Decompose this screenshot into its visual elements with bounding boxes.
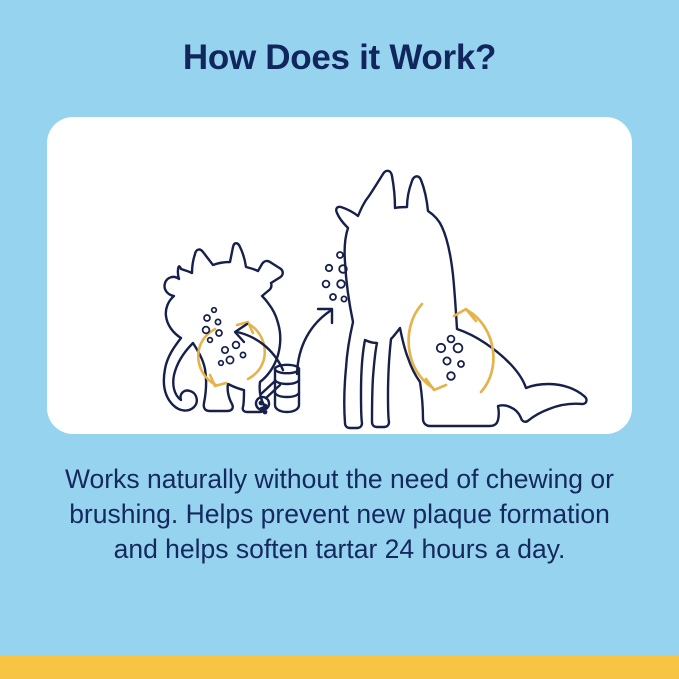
- dog-particles-mouth: [323, 252, 347, 302]
- dog-circulation-arrows: [409, 304, 494, 392]
- arrow-to-dog: [297, 309, 332, 374]
- powder-jar: [275, 365, 299, 412]
- caption-text: Works naturally without the need of chew…: [60, 462, 619, 567]
- dog-particles-internal: [437, 336, 464, 380]
- cat-particles-internal: [219, 342, 246, 366]
- how-it-works-illustration: [47, 117, 632, 434]
- dog-silhouette: [336, 171, 586, 428]
- cat-silhouette: [164, 243, 283, 412]
- bottom-accent-bar: [0, 656, 679, 679]
- illustration-card: [47, 117, 632, 434]
- page-title: How Does it Work?: [0, 36, 679, 80]
- infographic-page: How Does it Work?: [0, 0, 679, 679]
